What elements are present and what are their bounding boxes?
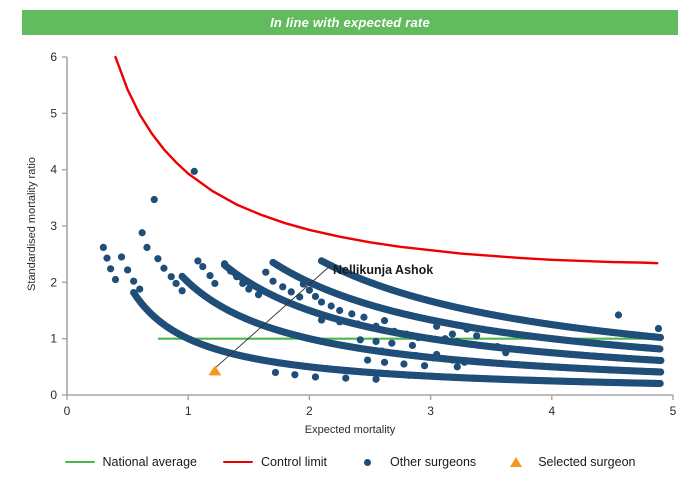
surgeon-point[interactable]: [336, 307, 343, 314]
surgeon-point[interactable]: [296, 293, 303, 300]
surgeon-point[interactable]: [372, 376, 379, 383]
surgeon-point[interactable]: [139, 229, 146, 236]
y-tick-label: 0: [50, 388, 57, 402]
surgeon-point[interactable]: [312, 293, 319, 300]
surgeon-point[interactable]: [405, 372, 412, 379]
surgeon-point[interactable]: [130, 278, 137, 285]
y-axis-title: Standardised mortality ratio: [26, 74, 38, 374]
surgeon-point[interactable]: [357, 336, 364, 343]
other-surgeons-dot-icon: [364, 459, 371, 466]
surgeon-point[interactable]: [124, 266, 131, 273]
surgeon-point[interactable]: [143, 244, 150, 251]
selected-surgeon-triangle-icon: [510, 457, 522, 467]
surgeon-point[interactable]: [615, 311, 622, 318]
surgeon-point[interactable]: [318, 298, 325, 305]
legend-label-other-surgeons: Other surgeons: [390, 455, 476, 469]
surgeon-point[interactable]: [191, 168, 198, 175]
legend-item-selected-surgeon[interactable]: Selected surgeon: [502, 455, 635, 469]
surgeon-point[interactable]: [160, 265, 167, 272]
surgeon-point[interactable]: [454, 363, 461, 370]
surgeon-point[interactable]: [179, 287, 186, 294]
surgeon-point[interactable]: [360, 314, 367, 321]
x-tick-label: 4: [548, 404, 555, 418]
surgeon-point[interactable]: [300, 280, 307, 287]
surgeon-point[interactable]: [100, 244, 107, 251]
surgeon-point[interactable]: [412, 352, 419, 359]
y-tick-label: 3: [50, 219, 57, 233]
surgeon-point[interactable]: [449, 331, 456, 338]
surgeon-point[interactable]: [372, 323, 379, 330]
control-limit-curve: [115, 57, 657, 263]
x-tick-label: 5: [670, 404, 677, 418]
funnel-plot-page: In line with expected rate 0123456012345…: [0, 0, 700, 500]
surgeon-point[interactable]: [342, 375, 349, 382]
surgeon-point[interactable]: [269, 278, 276, 285]
surgeon-point: [657, 368, 664, 375]
surgeon-point[interactable]: [211, 280, 218, 287]
surgeon-point[interactable]: [103, 255, 110, 262]
surgeon-point[interactable]: [433, 351, 440, 358]
surgeon-point[interactable]: [393, 350, 400, 357]
surgeon-point[interactable]: [449, 356, 456, 363]
surgeon-point[interactable]: [154, 255, 161, 262]
legend-item-other-surgeons[interactable]: Other surgeons: [353, 455, 476, 469]
y-tick-label: 1: [50, 332, 57, 346]
surgeon-point[interactable]: [400, 360, 407, 367]
surgeon-point[interactable]: [348, 310, 355, 317]
surgeon-point[interactable]: [403, 331, 410, 338]
surgeon-point[interactable]: [272, 369, 279, 376]
surgeon-point[interactable]: [306, 287, 313, 294]
y-tick-label: 5: [50, 106, 57, 120]
surgeon-point[interactable]: [381, 317, 388, 324]
surgeon-point[interactable]: [168, 273, 175, 280]
surgeon-point[interactable]: [206, 272, 213, 279]
surgeon-point[interactable]: [318, 316, 325, 323]
surgeon-point[interactable]: [473, 332, 480, 339]
surgeon-point[interactable]: [433, 323, 440, 330]
surgeon-point[interactable]: [112, 276, 119, 283]
surgeon-point[interactable]: [233, 273, 240, 280]
surgeon-point[interactable]: [354, 320, 361, 327]
surgeon-point: [657, 357, 664, 364]
legend-label-selected-surgeon: Selected surgeon: [538, 455, 635, 469]
y-tick-label: 2: [50, 275, 57, 289]
surgeon-point[interactable]: [151, 196, 158, 203]
surgeon-point[interactable]: [391, 328, 398, 335]
surgeon-point[interactable]: [199, 263, 206, 270]
surgeon-point[interactable]: [421, 362, 428, 369]
surgeon-point[interactable]: [372, 338, 379, 345]
surgeon-point[interactable]: [379, 347, 386, 354]
x-tick-label: 3: [427, 404, 434, 418]
selected-surgeon-annotation: Nellikunja Ashok: [333, 263, 433, 277]
surgeon-point[interactable]: [312, 373, 319, 380]
surgeon-point[interactable]: [364, 356, 371, 363]
national-average-line-icon: [65, 461, 95, 464]
surgeon-point[interactable]: [245, 285, 252, 292]
surgeon-point[interactable]: [655, 325, 662, 332]
legend-label-national-average: National average: [103, 455, 198, 469]
surgeon-point[interactable]: [463, 325, 470, 332]
surgeon-point[interactable]: [227, 267, 234, 274]
surgeon-point: [657, 334, 664, 341]
chart-legend: National average Control limit Other sur…: [0, 455, 700, 469]
surgeon-point[interactable]: [409, 342, 416, 349]
surgeon-point[interactable]: [288, 288, 295, 295]
x-tick-label: 1: [185, 404, 192, 418]
surgeon-point[interactable]: [328, 302, 335, 309]
surgeon-point: [656, 345, 663, 352]
surgeon-point[interactable]: [221, 260, 228, 267]
surgeon-point[interactable]: [442, 335, 449, 342]
surgeon-point[interactable]: [381, 359, 388, 366]
surgeon-point[interactable]: [502, 349, 509, 356]
surgeon-point[interactable]: [454, 338, 461, 345]
surgeon-point[interactable]: [262, 269, 269, 276]
surgeon-point[interactable]: [194, 257, 201, 264]
surgeon-point[interactable]: [461, 359, 468, 366]
surgeon-point[interactable]: [494, 343, 501, 350]
surgeon-point[interactable]: [415, 334, 422, 341]
surgeon-point[interactable]: [107, 265, 114, 272]
surgeon-point[interactable]: [291, 371, 298, 378]
surgeon-point[interactable]: [336, 318, 343, 325]
surgeon-point[interactable]: [118, 253, 125, 260]
x-tick-label: 2: [306, 404, 313, 418]
selected-surgeon-marker[interactable]: [208, 365, 221, 375]
x-tick-label: 0: [64, 404, 71, 418]
surgeon-point[interactable]: [279, 283, 286, 290]
y-tick-label: 4: [50, 163, 57, 177]
legend-label-control-limit: Control limit: [261, 455, 327, 469]
surgeon-point[interactable]: [136, 285, 143, 292]
legend-item-national-average[interactable]: National average: [65, 455, 198, 469]
legend-item-control-limit[interactable]: Control limit: [223, 455, 327, 469]
surgeon-point[interactable]: [239, 280, 246, 287]
surgeon-point[interactable]: [255, 291, 262, 298]
x-axis-title: Expected mortality: [0, 424, 700, 436]
surgeon-point[interactable]: [388, 340, 395, 347]
y-tick-label: 6: [50, 50, 57, 64]
surgeon-point[interactable]: [172, 280, 179, 287]
surgeon-point: [657, 380, 664, 387]
control-limit-line-icon: [223, 461, 253, 464]
